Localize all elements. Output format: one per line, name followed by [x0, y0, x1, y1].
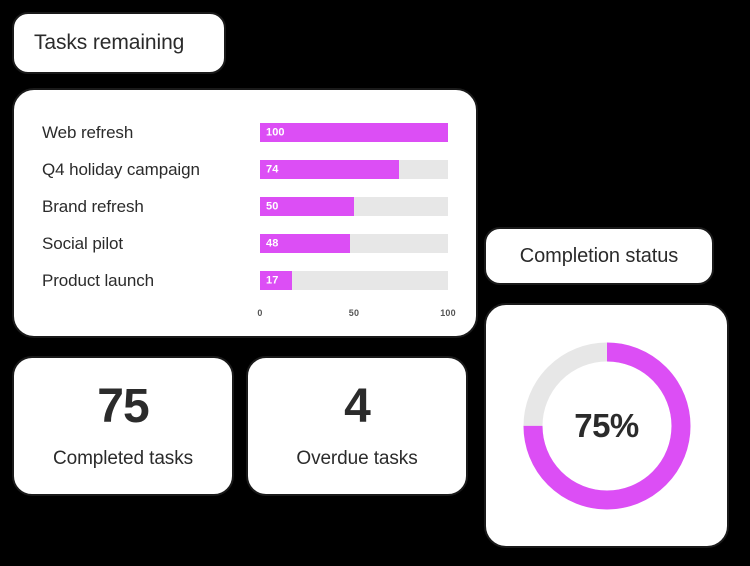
bar-chart: Web refresh100Q4 holiday campaign74Brand… — [14, 90, 476, 336]
donut-chart: 75% — [516, 335, 698, 517]
tasks-remaining-chart-card: Web refresh100Q4 holiday campaign74Brand… — [12, 88, 478, 338]
bar-fill: 48 — [260, 234, 350, 253]
x-axis-tick-label: 50 — [349, 308, 359, 318]
bar-fill: 100 — [260, 123, 448, 142]
bar-value-label: 17 — [266, 275, 278, 286]
bar-chart-row: Web refresh100 — [42, 114, 448, 151]
bar-category-label: Web refresh — [42, 123, 260, 143]
bar-chart-rows: Web refresh100Q4 holiday campaign74Brand… — [42, 114, 448, 299]
bar-category-label: Product launch — [42, 271, 260, 291]
bar-track: 100 — [260, 123, 448, 142]
bar-category-label: Brand refresh — [42, 197, 260, 217]
bar-fill: 17 — [260, 271, 292, 290]
kpi-card-overdue-tasks: 4 Overdue tasks — [246, 356, 468, 496]
bar-track: 48 — [260, 234, 448, 253]
tasks-remaining-title-card: Tasks remaining — [12, 12, 226, 74]
tasks-remaining-title-text: Tasks remaining — [34, 31, 184, 55]
bar-track: 50 — [260, 197, 448, 216]
bar-track: 17 — [260, 271, 448, 290]
bar-value-label: 100 — [266, 127, 285, 138]
bar-chart-x-axis: 050100 — [260, 308, 448, 326]
bar-chart-row: Q4 holiday campaign74 — [42, 151, 448, 188]
kpi-label-completed-tasks: Completed tasks — [53, 448, 193, 470]
bar-value-label: 48 — [266, 238, 278, 249]
x-axis-tick-label: 0 — [257, 308, 262, 318]
completion-status-title-text: Completion status — [520, 245, 678, 268]
bar-fill: 74 — [260, 160, 399, 179]
bar-chart-row: Product launch17 — [42, 262, 448, 299]
bar-category-label: Social pilot — [42, 234, 260, 254]
donut-center-label: 75% — [516, 335, 698, 517]
bar-chart-row: Brand refresh50 — [42, 188, 448, 225]
kpi-card-completed-tasks: 75 Completed tasks — [12, 356, 234, 496]
bar-track: 74 — [260, 160, 448, 179]
kpi-value-completed-tasks: 75 — [97, 383, 148, 431]
bar-category-label: Q4 holiday campaign — [42, 160, 260, 180]
bar-value-label: 74 — [266, 164, 278, 175]
x-axis-tick-label: 100 — [440, 308, 456, 318]
bar-chart-row: Social pilot48 — [42, 225, 448, 262]
kpi-label-overdue-tasks: Overdue tasks — [296, 448, 417, 470]
bar-value-label: 50 — [266, 201, 278, 212]
completion-status-title-card: Completion status — [484, 227, 714, 285]
bar-fill: 50 — [260, 197, 354, 216]
kpi-value-overdue-tasks: 4 — [344, 383, 370, 431]
completion-status-donut-card: 75% — [484, 303, 729, 548]
